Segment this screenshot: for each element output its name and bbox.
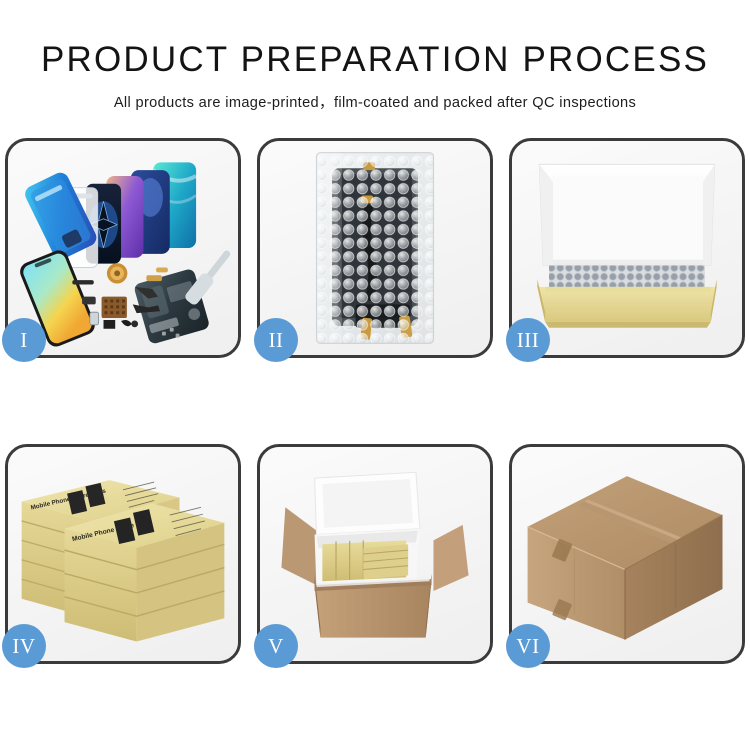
page-subtitle: All products are image-printed，film-coat… xyxy=(0,91,750,112)
panel-step-6: VI xyxy=(509,444,745,664)
illustration-sealed-shipping-carton xyxy=(512,447,742,661)
illustration-stack-of-printed-boxes: Mobile Phone Spare Parts xyxy=(8,447,238,661)
step-badge-4: IV xyxy=(2,624,46,668)
step-badge-2: II xyxy=(254,318,298,362)
illustration-screen-in-bubble-wrap xyxy=(260,141,490,355)
step-badge-5: V xyxy=(254,624,298,668)
panel-step-3: III xyxy=(509,138,745,358)
illustration-carton-with-styrofoam-and-boxes xyxy=(260,447,490,661)
illustration-phones-and-spare-parts xyxy=(8,141,238,355)
step-badge-1: I xyxy=(2,318,46,362)
panel-step-5: V xyxy=(257,444,493,664)
illustration-open-yellow-box-with-foam xyxy=(512,141,742,355)
step-badge-3: III xyxy=(506,318,550,362)
process-step-grid: I xyxy=(0,138,750,664)
panel-step-2: II xyxy=(257,138,493,358)
panel-step-1: I xyxy=(5,138,241,358)
step-badge-6: VI xyxy=(506,624,550,668)
panel-step-4: Mobile Phone Spare Parts xyxy=(5,444,241,664)
page-title: PRODUCT PREPARATION PROCESS xyxy=(0,42,750,77)
header: PRODUCT PREPARATION PROCESS All products… xyxy=(0,0,750,112)
